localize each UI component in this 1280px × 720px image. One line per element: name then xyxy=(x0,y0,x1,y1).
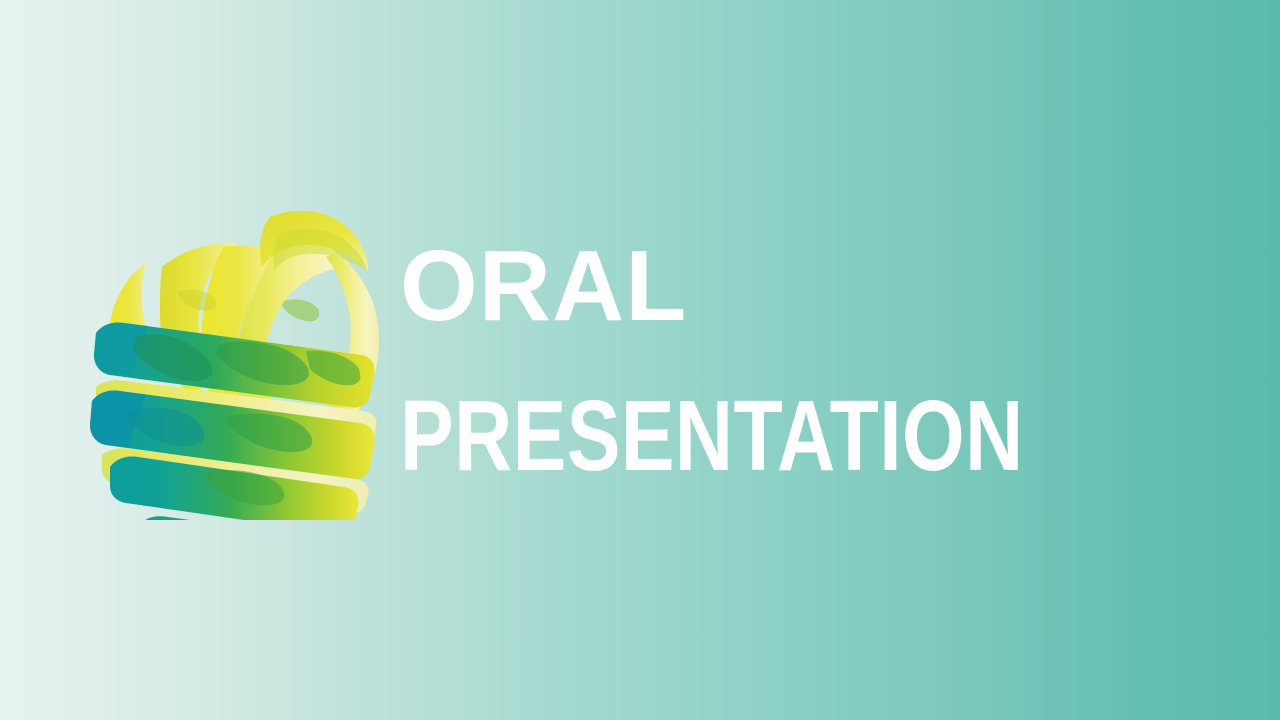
title-block: ORAL PRESENTATION xyxy=(400,236,1200,506)
slide-canvas: ORAL PRESENTATION xyxy=(0,0,1280,720)
title-line-presentation: PRESENTATION xyxy=(400,386,1024,486)
globe-ribbon-logo xyxy=(88,205,388,520)
title-line-oral: ORAL xyxy=(400,236,687,336)
